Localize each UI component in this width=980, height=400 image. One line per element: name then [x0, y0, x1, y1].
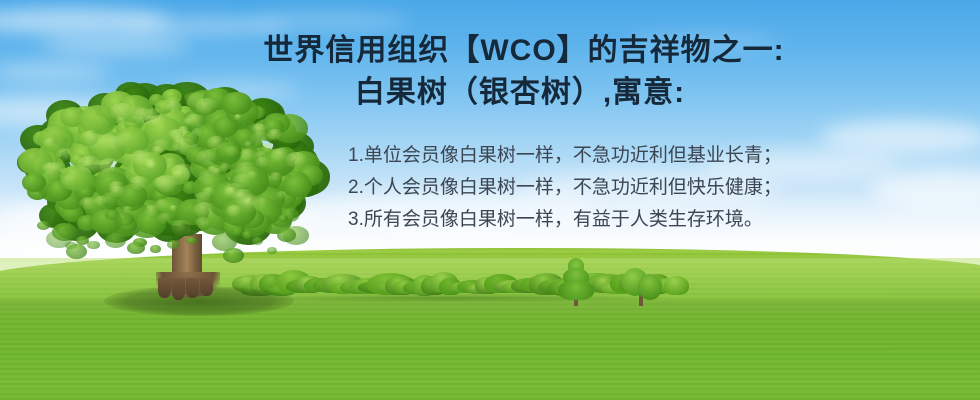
foliage-clump	[267, 247, 278, 254]
bullet-line-1: 1.单位会员像白果树一样，不急功近利但基业长青；	[348, 140, 908, 172]
bullet-block: 1.单位会员像白果树一样，不急功近利但基业长青； 2.个人会员像白果树一样，不急…	[348, 140, 908, 236]
wco-mascot-banner: 世界信用组织【WCO】的吉祥物之一: 白果树（银杏树）,寓意: 1.单位会员像白…	[0, 0, 980, 400]
foliage-highlight	[240, 149, 255, 160]
foliage-highlight	[237, 196, 261, 213]
foliage-clump	[252, 237, 263, 245]
foliage-highlight	[207, 136, 225, 149]
tree-root	[172, 278, 185, 300]
foliage-highlight	[191, 128, 203, 137]
foliage-highlight	[195, 217, 211, 229]
foliage-highlight	[196, 150, 218, 166]
shrub	[664, 276, 689, 295]
foliage-highlight	[171, 164, 195, 181]
foliage-highlight	[193, 202, 215, 218]
bullet-line-3: 3.所有会员像白果树一样，有益于人类生存环境。	[348, 204, 908, 236]
foliage-highlight	[285, 152, 308, 169]
heading-block: 世界信用组织【WCO】的吉祥物之一: 白果树（银杏树）,寓意:	[0, 30, 980, 114]
foliage-highlight	[115, 133, 134, 146]
foliage-clump	[223, 248, 245, 263]
foliage-highlight	[235, 162, 258, 178]
foliage-clump	[150, 245, 160, 252]
foliage-highlight	[56, 148, 74, 161]
foliage-clump	[127, 242, 145, 255]
tree-root	[186, 278, 199, 298]
foliage-clump	[66, 244, 88, 259]
foliage-clump	[105, 233, 126, 248]
foliage-highlight	[99, 158, 120, 173]
foliage-clump	[242, 231, 253, 238]
foliage-clump	[52, 223, 78, 241]
tree-root	[200, 278, 213, 296]
foliage-highlight	[129, 176, 149, 190]
foliage-highlight	[250, 123, 265, 134]
heading-line-1: 世界信用组织【WCO】的吉祥物之一:	[0, 30, 980, 72]
foliage-highlight	[94, 196, 109, 207]
foliage-highlight	[157, 213, 173, 224]
tree-root	[158, 278, 171, 298]
conifer-tree	[556, 258, 596, 306]
ginkgo-tree	[22, 86, 312, 306]
foliage-highlight	[145, 160, 155, 167]
foliage-highlight	[171, 220, 193, 236]
foliage-highlight	[42, 162, 59, 175]
foliage-clump	[22, 173, 46, 192]
bullet-line-2: 2.个人会员像白果树一样，不急功近利但快乐健康；	[348, 172, 908, 204]
foliage-highlight	[225, 146, 240, 157]
foliage-highlight	[178, 126, 188, 133]
foliage-clump	[37, 221, 50, 230]
foliage-clump	[87, 241, 100, 250]
foliage-highlight	[109, 186, 125, 198]
round-tree	[620, 268, 662, 306]
foliage-highlight	[43, 138, 56, 147]
heading-line-2: 白果树（银杏树）,寓意:	[0, 72, 980, 114]
